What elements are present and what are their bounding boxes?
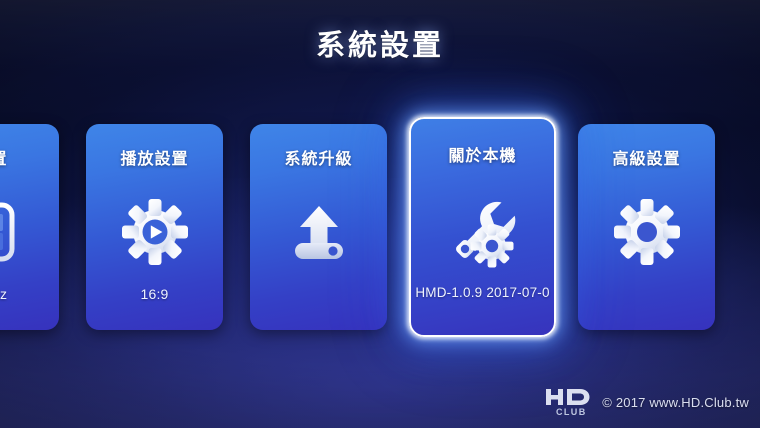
page-title: 系統設置 — [0, 22, 760, 64]
watermark: CLUB © 2017 www.HD.Club.tw — [546, 388, 749, 417]
gear-icon — [578, 190, 715, 274]
card-label: 播放設置 — [86, 145, 223, 169]
card-label: 設置 — [0, 145, 59, 169]
settings-screen: 系統設置 設置 60Hz — [0, 0, 760, 428]
hdclub-logo-icon: CLUB — [546, 388, 593, 417]
card-label: 系統升級 — [250, 145, 387, 169]
settings-card-rail: 設置 60Hz 播放設置 — [0, 124, 715, 337]
card-label: 關於本機 — [411, 142, 554, 166]
watermark-text: © 2017 www.HD.Club.tw — [602, 395, 749, 410]
card-value: 16:9 — [86, 286, 223, 302]
card-value: HMD-1.0.9 2017-07-0 — [411, 285, 554, 300]
upload-arrow-icon — [250, 190, 387, 274]
settings-card-about[interactable]: 關於本機 — [409, 117, 556, 337]
settings-card-upgrade[interactable]: 系統升級 — [250, 124, 387, 330]
card-value: 60Hz — [0, 286, 59, 302]
wrench-gear-icon — [411, 191, 554, 275]
card-label: 高級設置 — [578, 145, 715, 169]
display-screen-icon — [0, 190, 59, 274]
settings-card-display[interactable]: 設置 60Hz — [0, 124, 59, 330]
settings-card-advanced[interactable]: 高級設置 — [578, 124, 715, 330]
gear-play-icon — [86, 190, 223, 274]
settings-card-playback[interactable]: 播放設置 — [86, 124, 223, 330]
hdclub-logo-secondary: CLUB — [556, 407, 587, 417]
